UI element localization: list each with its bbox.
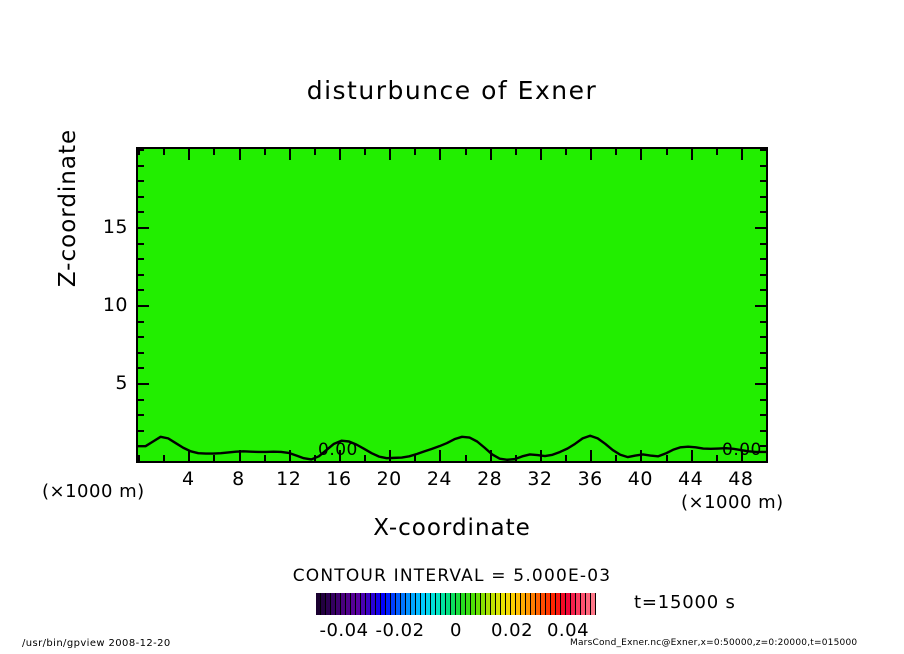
y-axis-title: Z-coordinate [55, 98, 81, 318]
x-tick-major [691, 450, 693, 461]
x-tick-major [590, 149, 592, 160]
y-tick-minor [760, 211, 766, 213]
x-tick-label: 20 [377, 468, 402, 490]
y-tick-minor [760, 149, 766, 151]
y-tick-minor [760, 258, 766, 260]
y-tick-minor [138, 321, 144, 323]
x-tick-major [640, 450, 642, 461]
y-tick-minor [138, 336, 144, 338]
y-tick-minor [138, 196, 144, 198]
y-tick-minor [138, 399, 144, 401]
x-tick-major [590, 450, 592, 461]
y-tick-minor [138, 414, 144, 416]
x-tick-major [389, 450, 391, 461]
x-tick-minor [314, 455, 316, 461]
x-tick-minor [364, 149, 366, 155]
x-tick-minor [515, 455, 517, 461]
x-unit-label-right: (×1000 m) [681, 492, 784, 513]
x-tick-major [289, 149, 291, 160]
x-unit-label-left: (×1000 m) [42, 481, 145, 502]
x-tick-minor [213, 455, 215, 461]
y-tick-minor [138, 461, 144, 463]
x-tick-major [439, 450, 441, 461]
y-tick-minor [138, 165, 144, 167]
y-tick-minor [138, 367, 144, 369]
x-tick-major [490, 149, 492, 160]
y-tick-major [755, 305, 766, 307]
contour-interval-label: CONTOUR INTERVAL = 5.000E-03 [0, 566, 904, 586]
x-tick-label: 16 [326, 468, 351, 490]
colorbar-tick-label: 0 [450, 620, 462, 641]
x-tick-label: 8 [232, 468, 245, 490]
contour-value-label: 0.00 [318, 440, 358, 460]
y-tick-minor [138, 211, 144, 213]
y-tick-label: 5 [115, 372, 128, 394]
x-tick-minor [414, 149, 416, 155]
x-tick-major [289, 450, 291, 461]
x-tick-label: 48 [728, 468, 753, 490]
x-tick-minor [414, 455, 416, 461]
time-label: t=15000 s [634, 592, 736, 613]
plot-area[interactable] [136, 147, 768, 463]
x-tick-minor [465, 149, 467, 155]
x-tick-label: 32 [527, 468, 552, 490]
x-tick-label: 40 [628, 468, 653, 490]
x-tick-minor [163, 455, 165, 461]
x-tick-minor [264, 455, 266, 461]
x-tick-major [439, 149, 441, 160]
y-tick-minor [760, 461, 766, 463]
x-tick-minor [766, 455, 768, 461]
y-tick-minor [760, 367, 766, 369]
x-tick-minor [314, 149, 316, 155]
colorbar[interactable] [316, 593, 596, 615]
x-tick-minor [615, 149, 617, 155]
x-tick-label: 24 [427, 468, 452, 490]
zero-contour-line [138, 149, 766, 461]
x-tick-minor [666, 149, 668, 155]
y-tick-minor [138, 180, 144, 182]
y-tick-minor [760, 352, 766, 354]
x-tick-minor [565, 149, 567, 155]
x-tick-major [640, 149, 642, 160]
x-tick-major [540, 149, 542, 160]
y-tick-minor [760, 430, 766, 432]
y-tick-minor [760, 165, 766, 167]
x-tick-label: 12 [276, 468, 301, 490]
x-tick-minor [264, 149, 266, 155]
x-tick-label: 36 [578, 468, 603, 490]
y-tick-minor [138, 274, 144, 276]
y-tick-minor [760, 414, 766, 416]
x-tick-label: 4 [182, 468, 195, 490]
x-tick-label: 28 [477, 468, 502, 490]
x-tick-major [339, 149, 341, 160]
x-tick-minor [565, 455, 567, 461]
x-tick-major [490, 450, 492, 461]
y-tick-label: 10 [103, 294, 128, 316]
x-axis-title: X-coordinate [0, 515, 904, 541]
x-tick-minor [515, 149, 517, 155]
x-tick-major [691, 149, 693, 160]
y-tick-minor [138, 149, 144, 151]
y-tick-minor [138, 352, 144, 354]
x-tick-major [540, 450, 542, 461]
y-tick-minor [138, 289, 144, 291]
contour-value-label: 0.00 [722, 440, 762, 460]
y-tick-minor [760, 321, 766, 323]
y-tick-major [755, 227, 766, 229]
footer-dataset: MarsCond_Exner.nc@Exner,x=0:50000,z=0:20… [570, 638, 857, 648]
x-tick-major [239, 450, 241, 461]
x-tick-major [188, 149, 190, 160]
x-tick-major [389, 149, 391, 160]
y-tick-minor [138, 445, 144, 447]
x-tick-minor [163, 149, 165, 155]
y-tick-minor [760, 336, 766, 338]
y-tick-minor [760, 274, 766, 276]
y-tick-major [138, 227, 149, 229]
colorbar-tick-label: -0.02 [375, 620, 424, 641]
x-tick-minor [615, 455, 617, 461]
y-tick-minor [760, 289, 766, 291]
y-tick-major [755, 383, 766, 385]
x-tick-minor [716, 149, 718, 155]
x-tick-minor [364, 455, 366, 461]
x-tick-minor [766, 149, 768, 155]
x-tick-minor [666, 455, 668, 461]
y-tick-minor [138, 243, 144, 245]
y-tick-minor [760, 196, 766, 198]
x-tick-major [741, 149, 743, 160]
x-tick-minor [213, 149, 215, 155]
y-tick-minor [760, 399, 766, 401]
y-tick-major [138, 305, 149, 307]
x-tick-major [239, 149, 241, 160]
y-tick-minor [138, 430, 144, 432]
y-tick-minor [760, 243, 766, 245]
y-tick-minor [760, 180, 766, 182]
x-tick-minor [716, 455, 718, 461]
colorbar-tick-label: -0.04 [319, 620, 368, 641]
x-tick-minor [465, 455, 467, 461]
y-tick-major [138, 383, 149, 385]
x-tick-label: 44 [678, 468, 703, 490]
footer-command: /usr/bin/gpview 2008-12-20 [22, 638, 171, 649]
y-tick-label: 15 [103, 216, 128, 238]
page-title: disturbunce of Exner [0, 76, 904, 105]
x-tick-major [188, 450, 190, 461]
y-tick-minor [138, 258, 144, 260]
colorbar-swatch [591, 593, 596, 615]
colorbar-tick-label: 0.02 [491, 620, 533, 641]
